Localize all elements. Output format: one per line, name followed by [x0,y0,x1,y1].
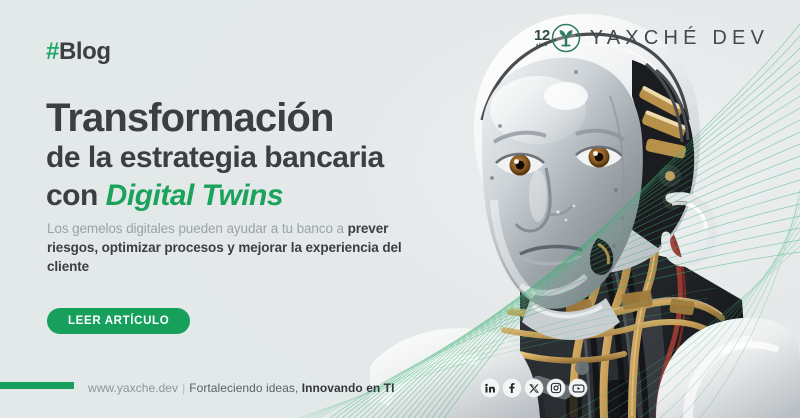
subheading: Los gemelos digitales pueden ayudar a tu… [47,219,439,276]
brand-name: YAXCHÉ DEV [590,27,769,50]
youtube-link[interactable] [569,379,587,397]
facebook-icon [506,382,518,394]
headline-line-1: Transformación [46,98,476,138]
subheading-normal: Los gemelos digitales pueden ayudar a tu… [47,221,348,236]
headline-line-2: de la estrategia bancaria [46,140,476,177]
footer-accent-bar [0,382,74,389]
footer-text: www.yaxche.dev|Fortaleciendo ideas, Inno… [88,381,394,395]
footer-website[interactable]: www.yaxche.dev [88,381,178,395]
instagram-link[interactable] [547,379,565,397]
social-links [481,379,587,397]
headline-highlight: Digital Twins [106,179,283,212]
anniversary-badge: 12 AÑOS [534,28,550,47]
blog-tag: #Blog [46,38,111,66]
headline: Transformación de la estrategia bancaria… [46,98,476,214]
footer-separator: | [182,381,185,395]
headline-line-3-prefix: con [46,179,106,212]
hash-symbol: # [46,38,59,65]
anniversary-number: 12 [534,28,550,43]
linkedin-icon [484,382,496,394]
brand-logo[interactable]: 12 AÑOS YAXCHÉ DEV [534,18,769,58]
footer-tagline-normal: Fortaleciendo ideas, [189,381,301,395]
headline-line-3: con Digital Twins [46,178,476,214]
instagram-icon [550,382,562,394]
x-twitter-icon [529,383,540,394]
blog-tag-label: Blog [59,38,111,65]
yaxche-tree-emblem-icon [551,23,581,53]
footer-tagline-strong: Innovando en TI [302,381,395,395]
x-twitter-link[interactable] [525,379,543,397]
linkedin-link[interactable] [481,379,499,397]
anniversary-label: AÑOS [536,44,548,48]
youtube-icon [572,382,585,395]
read-article-button[interactable]: LEER ARTÍCULO [47,308,190,334]
blog-promo-banner: 12 AÑOS YAXCHÉ DEV #Blog Transformación … [0,0,800,418]
facebook-link[interactable] [503,379,521,397]
